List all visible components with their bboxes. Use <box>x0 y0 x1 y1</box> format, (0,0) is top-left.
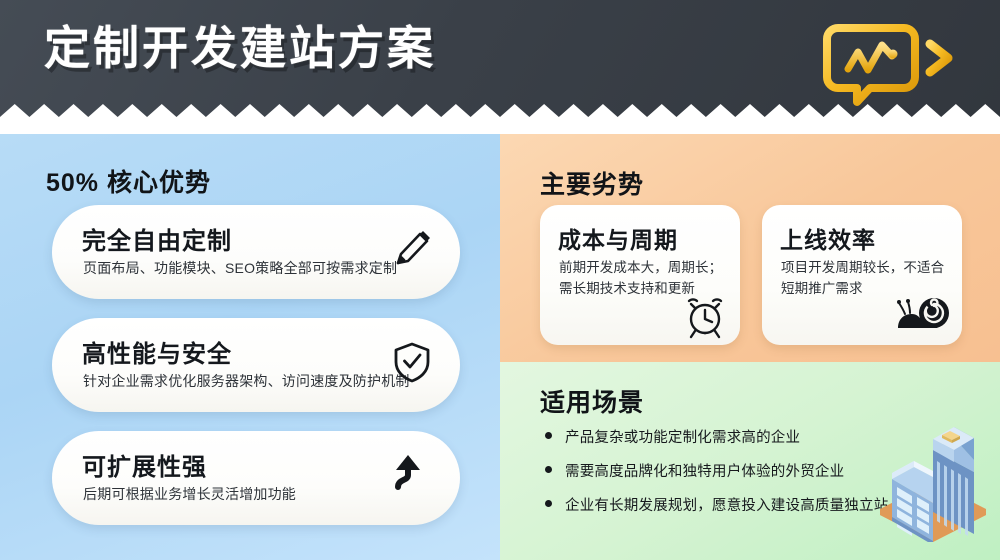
shield-check-icon <box>392 340 432 384</box>
list-item: 需要高度品牌化和独特用户体验的外贸企业 <box>543 460 873 481</box>
advantage-card-2-title: 高性能与安全 <box>82 334 232 369</box>
disadvantages-heading: 主要劣势 <box>540 165 644 201</box>
disadvantage-card-1-desc: 前期开发成本大，周期长；需长期技术支持和更新 <box>559 258 735 300</box>
advantage-card-3-title: 可扩展性强 <box>82 447 207 482</box>
advantage-card-3-desc: 后期可根据业务增长灵活增加功能 <box>83 484 296 504</box>
isometric-office-building-icon <box>874 417 992 542</box>
advantages-heading: 50% 核心优势 <box>46 163 211 199</box>
advantage-card-2[interactable]: 高性能与安全 针对企业需求优化服务器架构、访问速度及防护机制 <box>52 318 460 412</box>
advantage-card-3[interactable]: 可扩展性强 后期可根据业务增长灵活增加功能 <box>52 431 460 525</box>
scenarios-heading: 适用场景 <box>540 383 644 419</box>
arrow-up-curve-icon <box>392 453 432 497</box>
pencil-icon <box>392 227 432 271</box>
advantage-card-2-desc: 针对企业需求优化服务器架构、访问速度及防护机制 <box>83 371 410 391</box>
page-title: 定制开发建站方案 <box>44 25 436 71</box>
scenario-item-1-text: 产品复杂或功能定制化需求高的企业 <box>565 430 800 446</box>
list-item: 产品复杂或功能定制化需求高的企业 <box>543 426 873 447</box>
alarm-clock-icon <box>682 295 728 339</box>
bullet-dot-icon <box>545 500 552 507</box>
disadvantage-card-2[interactable]: 上线效率 项目开发周期较长，不适合短期推广需求 <box>762 205 962 345</box>
scenario-item-2-text: 需要高度品牌化和独特用户体验的外贸企业 <box>565 464 844 480</box>
bullet-dot-icon <box>545 466 552 473</box>
snail-icon <box>896 297 952 333</box>
advantage-card-1-title: 完全自由定制 <box>82 221 232 256</box>
advantage-card-1[interactable]: 完全自由定制 页面布局、功能模块、SEO策略全部可按需求定制 <box>52 205 460 299</box>
zigzag-divider-icon <box>0 104 1000 134</box>
disadvantage-card-1[interactable]: 成本与周期 前期开发成本大，周期长；需长期技术支持和更新 <box>540 205 740 345</box>
scenario-list: 产品复杂或功能定制化需求高的企业 需要高度品牌化和独特用户体验的外贸企业 企业有… <box>543 426 873 528</box>
disadvantage-card-1-title: 成本与周期 <box>558 221 678 255</box>
list-item: 企业有长期发展规划，愿意投入建设高质量独立站。 <box>543 494 873 515</box>
bullet-dot-icon <box>545 432 552 439</box>
slide-root: 定制开发建站方案 <box>0 0 1000 560</box>
disadvantage-card-2-desc: 项目开发周期较长，不适合短期推广需求 <box>781 258 957 300</box>
chat-bubble-chart-logo-icon <box>820 12 960 107</box>
scenario-item-3-text: 企业有长期发展规划，愿意投入建设高质量独立站。 <box>565 498 903 514</box>
disadvantage-card-2-title: 上线效率 <box>780 221 876 255</box>
advantage-card-1-desc: 页面布局、功能模块、SEO策略全部可按需求定制 <box>83 258 397 278</box>
